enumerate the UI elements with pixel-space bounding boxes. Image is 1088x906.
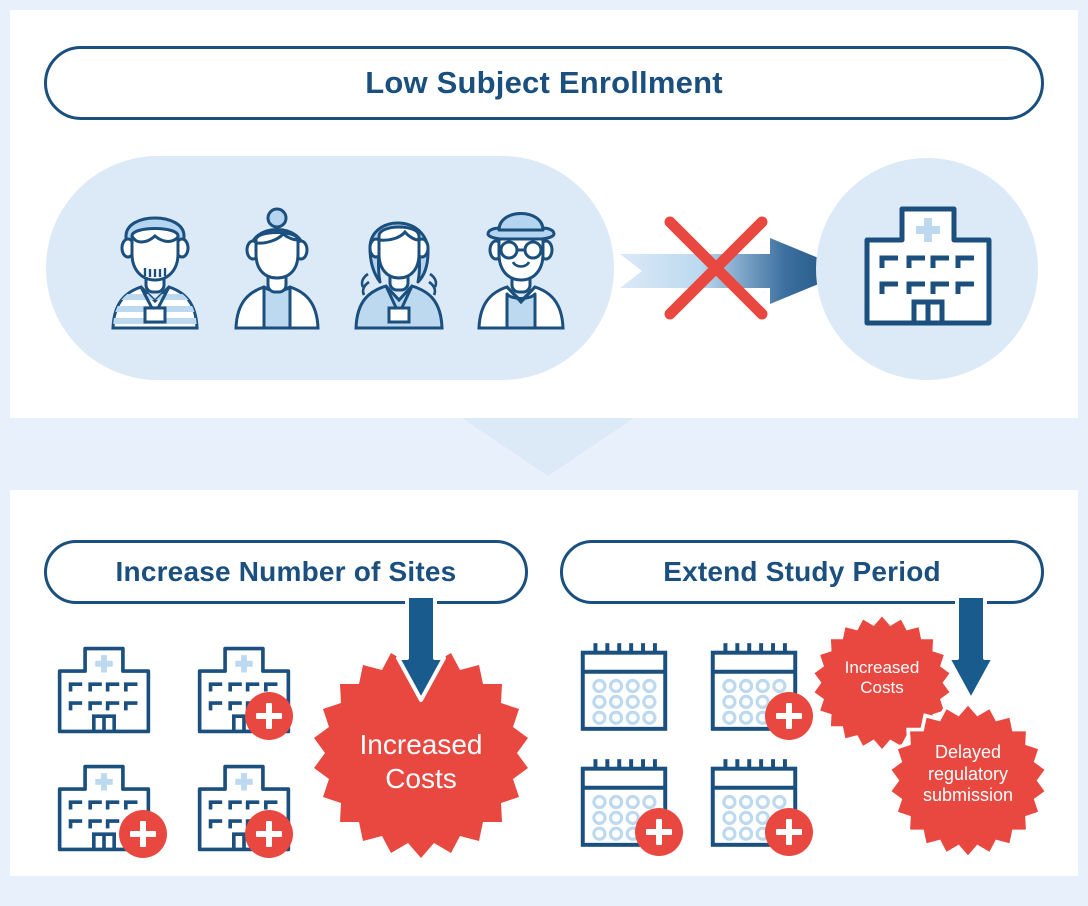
- hospital-icon: [862, 204, 994, 328]
- plus-circle-icon: [245, 810, 293, 858]
- plus-circle-icon: [765, 808, 813, 856]
- plus-circle-icon: [635, 808, 683, 856]
- red-x-icon: [660, 212, 772, 324]
- plus-circle-icon: [765, 692, 813, 740]
- arrow-down-icon: [948, 596, 994, 706]
- infographic-root: Low Subject Enrollment: [0, 0, 1088, 906]
- person-hat-glasses-icon: [466, 196, 576, 328]
- plus-circle-icon: [119, 810, 167, 858]
- plus-circle-icon: [245, 692, 293, 740]
- person-short-hair-beard-icon: [100, 196, 210, 328]
- tab-increase-number-of-sites: Increase Number of Sites: [44, 540, 528, 604]
- page-title: Low Subject Enrollment: [44, 46, 1044, 120]
- calendar-icon: [576, 640, 672, 732]
- arrow-down-icon: [398, 596, 444, 706]
- chevron-down-icon: [462, 418, 634, 476]
- status-badge-delayed-regulatory-submission: Delayed regulatory submission: [886, 700, 1050, 864]
- person-long-hair-icon: [344, 196, 454, 328]
- hospital-icon: [56, 644, 152, 736]
- person-bun-hair-icon: [222, 196, 332, 328]
